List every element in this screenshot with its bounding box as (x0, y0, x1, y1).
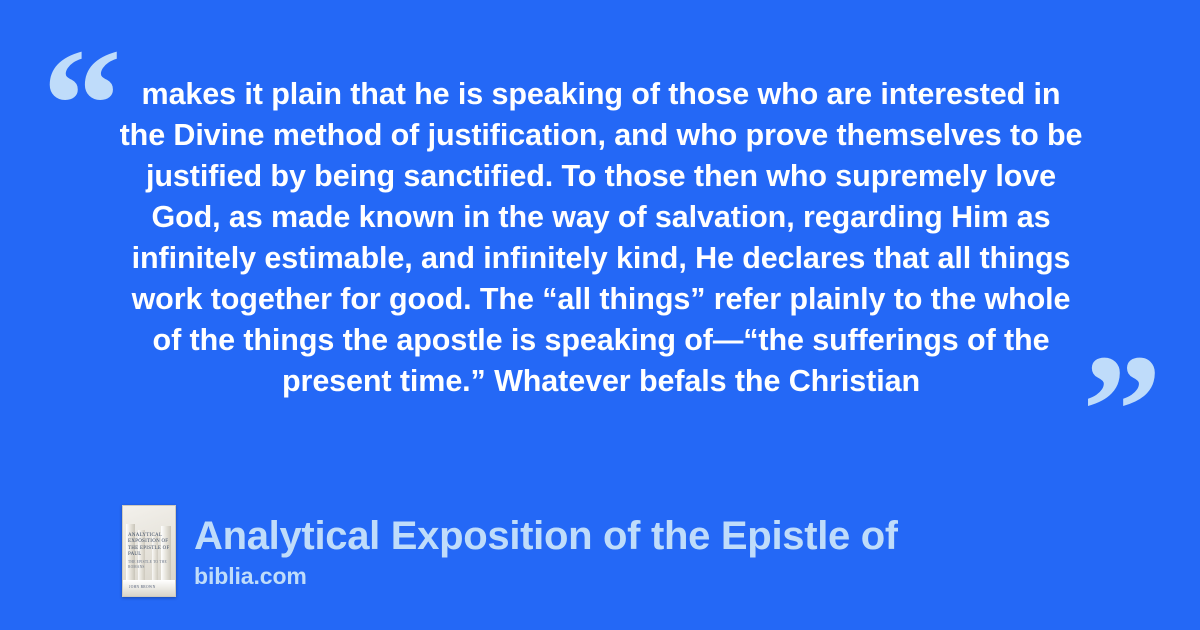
source-title: Analytical Exposition of the Epistle of (194, 513, 898, 560)
open-quote-icon: “ (42, 24, 122, 184)
book-cover-subtitle: The Epistle to the Romans (128, 560, 167, 569)
book-cover-title: Analytical Exposition of the Epistle of … (128, 533, 170, 558)
attribution-text: Analytical Exposition of the Epistle of … (194, 513, 898, 590)
book-cover-thumbnail: Analytical Exposition of the Epistle of … (122, 505, 176, 597)
close-quote-icon: ” (1082, 330, 1162, 490)
book-cover-author: John Brown (129, 585, 155, 589)
quote-card: “ makes it plain that he is speaking of … (0, 0, 1200, 630)
quote-text: makes it plain that he is speaking of th… (118, 74, 1084, 402)
attribution: Analytical Exposition of the Epistle of … (122, 505, 1162, 597)
source-site: biblia.com (194, 562, 898, 590)
quote-text-block: makes it plain that he is speaking of th… (118, 74, 1084, 402)
